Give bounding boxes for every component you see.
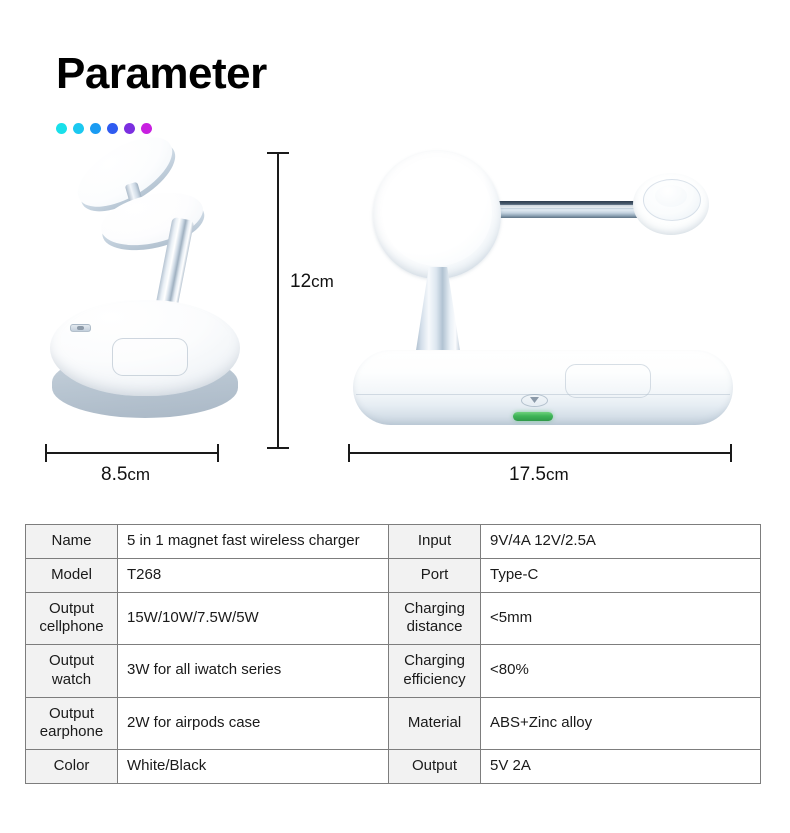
spec-value: 5V 2A bbox=[481, 750, 761, 784]
spec-label: Input bbox=[389, 525, 481, 559]
status-led-indicator bbox=[70, 324, 91, 332]
height-value: 12 bbox=[290, 271, 311, 292]
spec-value: ABS+Zinc alloy bbox=[481, 697, 761, 750]
spec-label: Charging efficiency bbox=[389, 645, 481, 698]
right-width-cap-start bbox=[348, 444, 350, 462]
spec-label: Output earphone bbox=[26, 697, 118, 750]
watch-puck-dome bbox=[655, 185, 687, 207]
magsafe-phone-disc bbox=[373, 151, 501, 279]
height-dimension-label: 12cm bbox=[290, 271, 334, 293]
height-dimension-cap-top bbox=[267, 152, 289, 154]
spec-value: T268 bbox=[118, 558, 389, 592]
specification-table-body: Name 5 in 1 magnet fast wireless charger… bbox=[26, 525, 761, 784]
spec-label: Charging distance bbox=[389, 592, 481, 645]
gradient-dot-row bbox=[56, 123, 152, 134]
left-width-value: 8.5 bbox=[101, 464, 127, 485]
watch-charging-puck bbox=[633, 173, 709, 235]
table-row: Output cellphone 15W/10W/7.5W/5W Chargin… bbox=[26, 592, 761, 645]
product-image-front-view bbox=[345, 145, 740, 445]
earphone-charging-pad bbox=[112, 338, 188, 376]
product-image-side-view bbox=[40, 145, 280, 455]
spec-value: <80% bbox=[481, 645, 761, 698]
charging-symbol-icon bbox=[521, 394, 548, 407]
spec-label: Name bbox=[26, 525, 118, 559]
left-width-cap-start bbox=[45, 444, 47, 462]
status-led-indicator bbox=[513, 412, 553, 421]
charger-base bbox=[353, 350, 733, 425]
right-width-unit: cm bbox=[546, 465, 569, 484]
spec-label: Color bbox=[26, 750, 118, 784]
spec-label: Output bbox=[389, 750, 481, 784]
spec-value: <5mm bbox=[481, 592, 761, 645]
spec-label: Output watch bbox=[26, 645, 118, 698]
right-width-value: 17.5 bbox=[509, 464, 546, 485]
spec-value: 3W for all iwatch series bbox=[118, 645, 389, 698]
table-row: Name 5 in 1 magnet fast wireless charger… bbox=[26, 525, 761, 559]
earphone-charging-pad bbox=[565, 364, 651, 398]
gradient-dot bbox=[124, 123, 135, 134]
gradient-dot bbox=[107, 123, 118, 134]
spec-value: White/Black bbox=[118, 750, 389, 784]
table-row: Output earphone 2W for airpods case Mate… bbox=[26, 697, 761, 750]
left-width-dimension-line bbox=[45, 452, 219, 454]
product-illustration-stage: 12cm 8.5cm 17.5cm bbox=[0, 145, 790, 495]
table-row: Color White/Black Output 5V 2A bbox=[26, 750, 761, 784]
right-width-dimension-label: 17.5cm bbox=[509, 464, 569, 486]
spec-value: 15W/10W/7.5W/5W bbox=[118, 592, 389, 645]
left-width-unit: cm bbox=[127, 465, 150, 484]
page-title: Parameter bbox=[56, 52, 267, 96]
gradient-dot bbox=[73, 123, 84, 134]
base-top-surface bbox=[50, 300, 240, 396]
spec-value: 2W for airpods case bbox=[118, 697, 389, 750]
table-row: Model T268 Port Type-C bbox=[26, 558, 761, 592]
chrome-stem bbox=[415, 267, 461, 357]
gradient-dot bbox=[90, 123, 101, 134]
gradient-dot bbox=[56, 123, 67, 134]
height-unit: cm bbox=[311, 272, 334, 291]
specification-table: Name 5 in 1 magnet fast wireless charger… bbox=[25, 524, 761, 784]
magsafe-disc-inner bbox=[382, 158, 492, 266]
spec-label: Port bbox=[389, 558, 481, 592]
charger-base bbox=[50, 300, 240, 420]
spec-value: 9V/4A 12V/2.5A bbox=[481, 525, 761, 559]
table-row: Output watch 3W for all iwatch series Ch… bbox=[26, 645, 761, 698]
spec-value: Type-C bbox=[481, 558, 761, 592]
height-dimension-cap-bottom bbox=[267, 447, 289, 449]
height-dimension-line bbox=[277, 152, 279, 449]
left-width-cap-end bbox=[217, 444, 219, 462]
spec-value: 5 in 1 magnet fast wireless charger bbox=[118, 525, 389, 559]
spec-label: Output cellphone bbox=[26, 592, 118, 645]
spec-label: Model bbox=[26, 558, 118, 592]
right-width-dimension-line bbox=[348, 452, 732, 454]
right-width-cap-end bbox=[730, 444, 732, 462]
spec-label: Material bbox=[389, 697, 481, 750]
left-width-dimension-label: 8.5cm bbox=[101, 464, 150, 486]
